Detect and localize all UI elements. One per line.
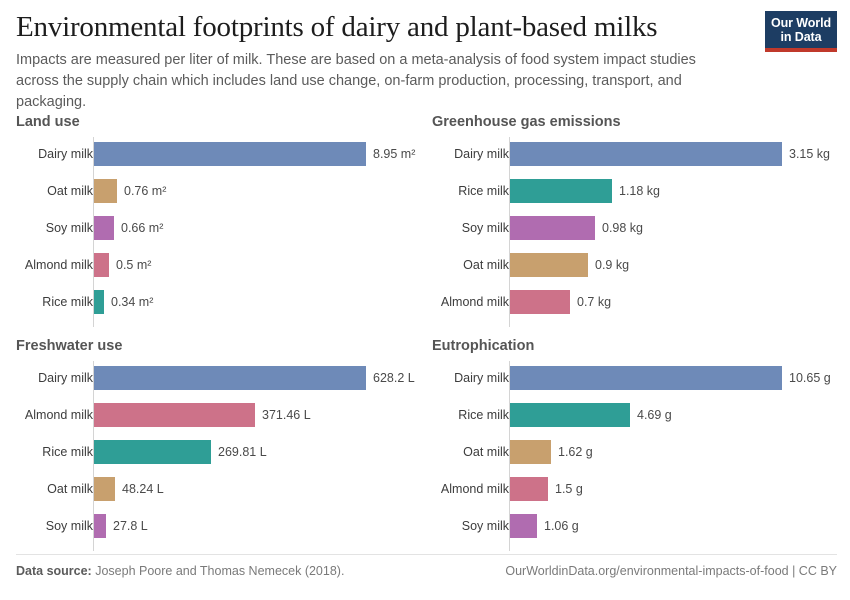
bar-row[interactable]: Dairy milk10.65 g <box>424 365 842 391</box>
bar-value-label: 8.95 m² <box>366 141 415 167</box>
data-source-label: Data source: <box>16 564 92 578</box>
bar-value-label: 0.34 m² <box>104 289 153 315</box>
bar-category-label: Soy milk <box>8 513 100 539</box>
bar-category-label: Almond milk <box>8 402 100 428</box>
bar-row[interactable]: Dairy milk3.15 kg <box>424 141 842 167</box>
bar[interactable] <box>94 290 104 314</box>
bar-value-label: 3.15 kg <box>782 141 830 167</box>
bar[interactable] <box>94 179 117 203</box>
bar-row[interactable]: Oat milk1.62 g <box>424 439 842 465</box>
plot-area: Dairy milk3.15 kgRice milk1.18 kgSoy mil… <box>424 137 842 327</box>
bar-row[interactable]: Soy milk1.06 g <box>424 513 842 539</box>
logo-line-1: Our World <box>765 16 837 30</box>
bar-category-label: Dairy milk <box>424 141 516 167</box>
bar-value-label: 269.81 L <box>211 439 267 465</box>
owid-credit-link[interactable]: OurWorldinData.org/environmental-impacts… <box>505 564 837 578</box>
bar-category-label: Rice milk <box>424 178 516 204</box>
bar-value-label: 1.62 g <box>551 439 593 465</box>
bar[interactable] <box>94 216 114 240</box>
bar[interactable] <box>94 142 366 166</box>
bar[interactable] <box>94 253 109 277</box>
bar[interactable] <box>510 477 548 501</box>
bar-category-label: Oat milk <box>8 178 100 204</box>
bar-category-label: Dairy milk <box>8 141 100 167</box>
bar-value-label: 0.5 m² <box>109 252 151 278</box>
data-source-text: Joseph Poore and Thomas Nemecek (2018). <box>92 564 345 578</box>
bar-value-label: 0.9 kg <box>588 252 629 278</box>
bar-row[interactable]: Soy milk0.98 kg <box>424 215 842 241</box>
bar[interactable] <box>510 253 588 277</box>
bar-row[interactable]: Soy milk0.66 m² <box>8 215 426 241</box>
bar-category-label: Soy milk <box>424 215 516 241</box>
chart-panel-greenhouse-gas-emissions: Greenhouse gas emissionsDairy milk3.15 k… <box>424 113 842 331</box>
bar[interactable] <box>94 514 106 538</box>
bar-row[interactable]: Dairy milk8.95 m² <box>8 141 426 167</box>
bar[interactable] <box>94 477 115 501</box>
chart-panel-freshwater-use: Freshwater useDairy milk628.2 LAlmond mi… <box>8 337 426 555</box>
bar-category-label: Almond milk <box>424 289 516 315</box>
bar-category-label: Dairy milk <box>8 365 100 391</box>
bar-category-label: Oat milk <box>424 252 516 278</box>
panel-title: Eutrophication <box>432 337 842 355</box>
bar[interactable] <box>510 403 630 427</box>
bar-row[interactable]: Rice milk4.69 g <box>424 402 842 428</box>
logo-line-2: in Data <box>765 30 837 48</box>
bar-value-label: 0.98 kg <box>595 215 643 241</box>
data-source: Data source: Joseph Poore and Thomas Nem… <box>16 564 344 578</box>
bar-row[interactable]: Almond milk0.5 m² <box>8 252 426 278</box>
bar-category-label: Almond milk <box>424 476 516 502</box>
bar-category-label: Rice milk <box>8 289 100 315</box>
bar[interactable] <box>510 216 595 240</box>
panel-title: Land use <box>16 113 426 131</box>
bar-row[interactable]: Rice milk1.18 kg <box>424 178 842 204</box>
bar-row[interactable]: Almond milk1.5 g <box>424 476 842 502</box>
bar-row[interactable]: Oat milk0.9 kg <box>424 252 842 278</box>
bar[interactable] <box>510 514 537 538</box>
bar-row[interactable]: Almond milk371.46 L <box>8 402 426 428</box>
page-title: Environmental footprints of dairy and pl… <box>16 10 746 44</box>
bar-category-label: Almond milk <box>8 252 100 278</box>
bar[interactable] <box>510 366 782 390</box>
bar-row[interactable]: Almond milk0.7 kg <box>424 289 842 315</box>
bar-row[interactable]: Oat milk48.24 L <box>8 476 426 502</box>
chart-footer: Data source: Joseph Poore and Thomas Nem… <box>16 554 837 582</box>
bar[interactable] <box>94 440 211 464</box>
bar-category-label: Dairy milk <box>424 365 516 391</box>
bar-category-label: Oat milk <box>424 439 516 465</box>
bar-row[interactable]: Rice milk0.34 m² <box>8 289 426 315</box>
bar[interactable] <box>510 440 551 464</box>
bar[interactable] <box>94 403 255 427</box>
chart-panel-land-use: Land useDairy milk8.95 m²Oat milk0.76 m²… <box>8 113 426 331</box>
our-world-in-data-logo[interactable]: Our World in Data <box>765 11 837 52</box>
bar-value-label: 1.06 g <box>537 513 579 539</box>
bar[interactable] <box>510 290 570 314</box>
chart-panel-eutrophication: EutrophicationDairy milk10.65 gRice milk… <box>424 337 842 555</box>
bar-category-label: Rice milk <box>8 439 100 465</box>
plot-area: Dairy milk8.95 m²Oat milk0.76 m²Soy milk… <box>8 137 426 327</box>
bar-row[interactable]: Rice milk269.81 L <box>8 439 426 465</box>
plot-area: Dairy milk10.65 gRice milk4.69 gOat milk… <box>424 361 842 551</box>
chart-panels: Land useDairy milk8.95 m²Oat milk0.76 m²… <box>0 113 850 553</box>
bar-value-label: 10.65 g <box>782 365 831 391</box>
bar-value-label: 0.66 m² <box>114 215 163 241</box>
bar-value-label: 27.8 L <box>106 513 148 539</box>
bar-value-label: 48.24 L <box>115 476 164 502</box>
bar-value-label: 4.69 g <box>630 402 672 428</box>
panel-title: Freshwater use <box>16 337 426 355</box>
chart-page: Environmental footprints of dairy and pl… <box>0 0 850 600</box>
bar-row[interactable]: Soy milk27.8 L <box>8 513 426 539</box>
bar-category-label: Rice milk <box>424 402 516 428</box>
chart-header: Environmental footprints of dairy and pl… <box>16 10 746 113</box>
bar-category-label: Oat milk <box>8 476 100 502</box>
plot-area: Dairy milk628.2 LAlmond milk371.46 LRice… <box>8 361 426 551</box>
bar-value-label: 0.76 m² <box>117 178 166 204</box>
bar[interactable] <box>510 179 612 203</box>
bar[interactable] <box>94 366 366 390</box>
bar[interactable] <box>510 142 782 166</box>
bar-value-label: 1.18 kg <box>612 178 660 204</box>
bar-row[interactable]: Dairy milk628.2 L <box>8 365 426 391</box>
bar-row[interactable]: Oat milk0.76 m² <box>8 178 426 204</box>
chart-subtitle: Impacts are measured per liter of milk. … <box>16 50 716 113</box>
bar-category-label: Soy milk <box>424 513 516 539</box>
bar-category-label: Soy milk <box>8 215 100 241</box>
bar-value-label: 371.46 L <box>255 402 311 428</box>
bar-value-label: 0.7 kg <box>570 289 611 315</box>
bar-value-label: 628.2 L <box>366 365 415 391</box>
panel-title: Greenhouse gas emissions <box>432 113 842 131</box>
bar-value-label: 1.5 g <box>548 476 583 502</box>
